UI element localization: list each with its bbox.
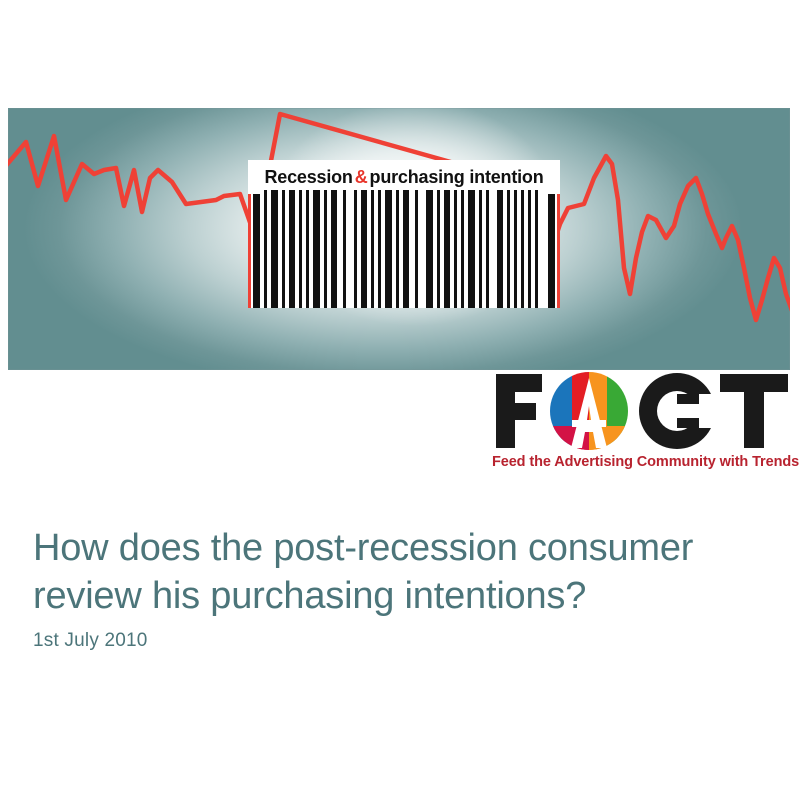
fact-logo-tagline: Feed the Advertising Community with Tren… — [492, 454, 792, 470]
page-date: 1st July 2010 — [33, 630, 148, 652]
barcode-caption-ampersand: & — [353, 167, 370, 188]
page-title-line-2: review his purchasing intentions? — [33, 572, 753, 620]
fact-logo-svg — [492, 370, 792, 452]
barcode-graphic: Recession & purchasing intention — [248, 160, 560, 308]
logo-letter-t — [720, 374, 788, 448]
page-title-line-1: How does the post-recession consumer — [33, 524, 753, 572]
barcode-caption-after: purchasing intention — [370, 167, 544, 188]
page-title: How does the post-recession consumer rev… — [33, 524, 753, 620]
barcode-bars-svg — [248, 190, 560, 308]
fact-logo: Feed the Advertising Community with Tren… — [492, 370, 792, 478]
logo-letter-f — [496, 374, 542, 448]
logo-letter-a — [550, 372, 629, 452]
banner-image: Recession & purchasing intention — [8, 108, 790, 370]
slide-root: Recession & purchasing intention — [0, 0, 800, 800]
barcode-bars — [248, 190, 560, 308]
barcode-caption-before: Recession — [264, 167, 352, 188]
barcode-caption: Recession & purchasing intention — [248, 160, 560, 194]
fact-logo-mark — [492, 370, 792, 452]
